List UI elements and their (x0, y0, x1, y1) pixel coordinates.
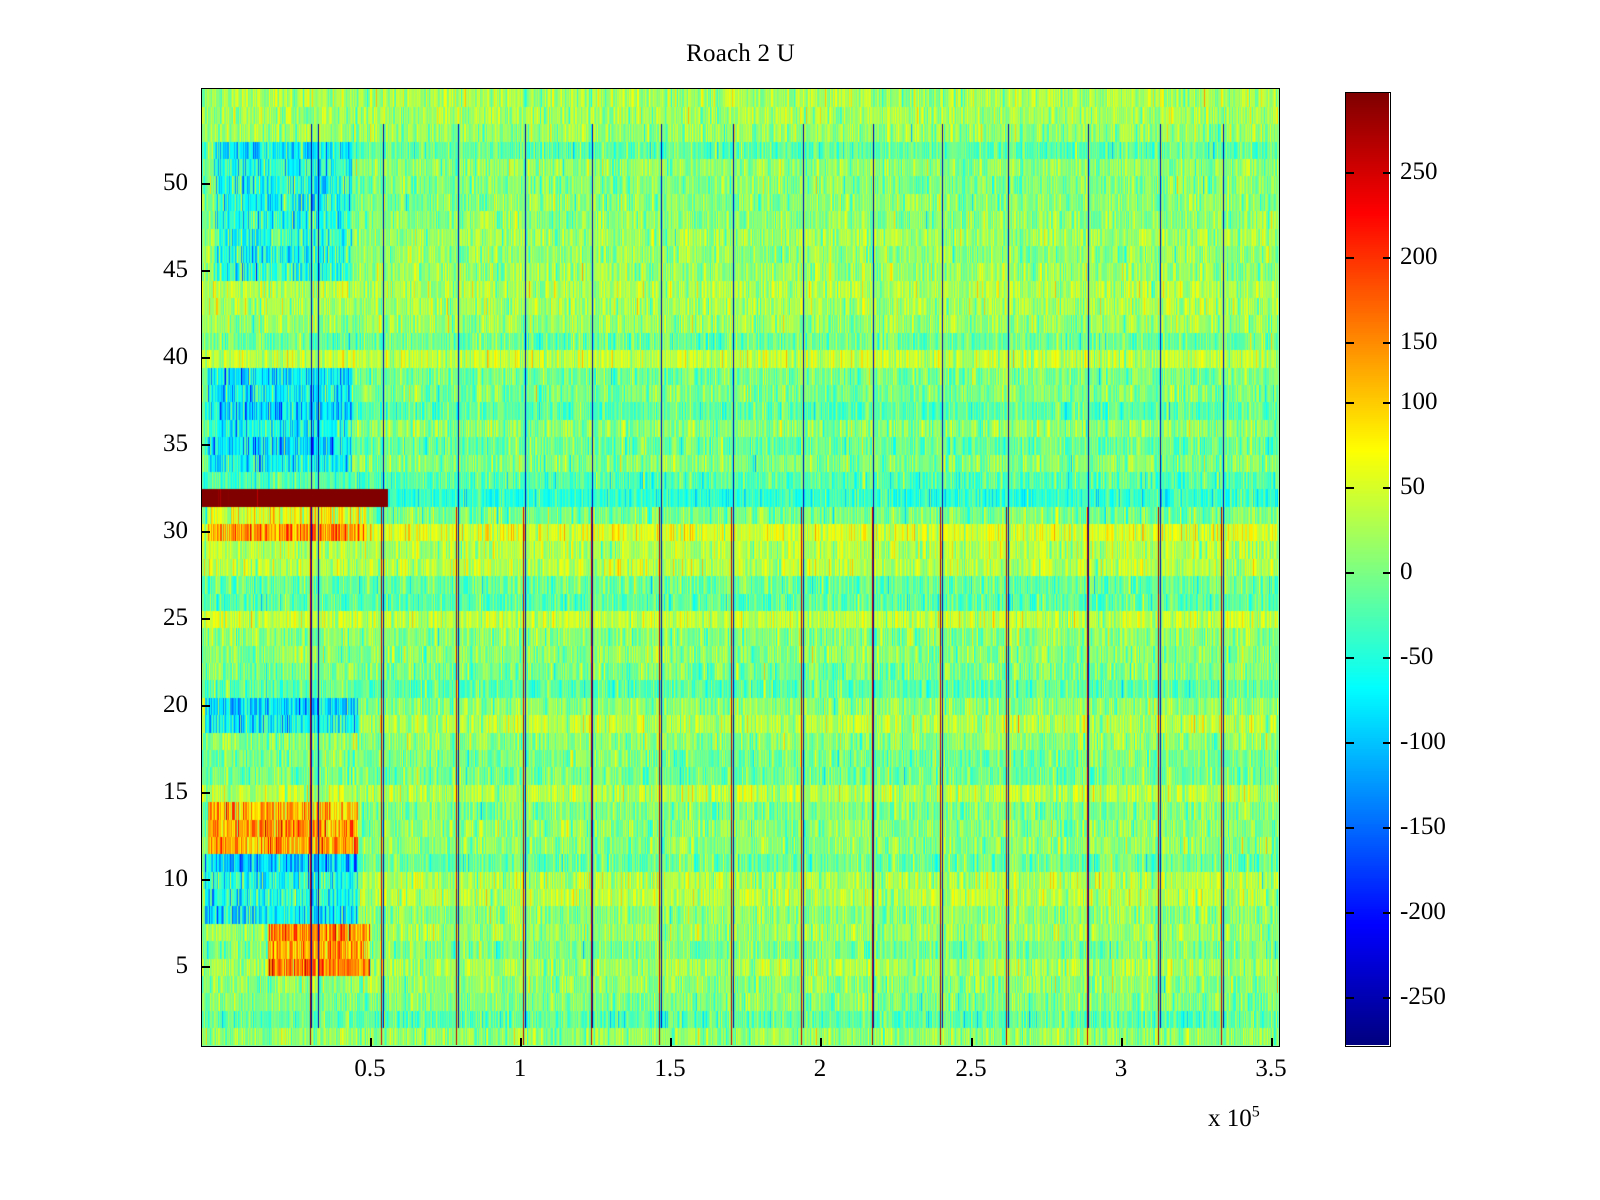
y-tick-35 (201, 444, 210, 446)
colorbar-label--150: -150 (1400, 814, 1446, 840)
colorbar-tick-100-left (1346, 402, 1354, 404)
figure-canvas: Roach 2 U 5 10 15 20 25 30 35 40 45 50 0… (0, 0, 1600, 1200)
x-axis-exponent-label: x 105 (1208, 1105, 1260, 1133)
colorbar-tick--100-left (1346, 742, 1354, 744)
colorbar-tick--250-left (1346, 997, 1354, 999)
x-tick-1 (520, 1038, 522, 1047)
x-ticklabel-1.5: 1.5 (654, 1056, 685, 1082)
x-exponent-power: 5 (1252, 1104, 1260, 1121)
heatmap-image[interactable] (202, 89, 1278, 1045)
colorbar-tick-0-right (1383, 572, 1391, 574)
colorbar-tick--150-right (1383, 827, 1391, 829)
colorbar-tick-0-left (1346, 572, 1354, 574)
colorbar-tick--50-right (1383, 657, 1391, 659)
colorbar-tick-250-left (1346, 172, 1354, 174)
x-tick-3 (1121, 1038, 1123, 1047)
colorbar-tick--200-right (1383, 912, 1391, 914)
y-ticklabel-40: 40 (130, 344, 188, 370)
colorbar-tick--200-left (1346, 912, 1354, 914)
y-ticklabel-30: 30 (130, 518, 188, 544)
colorbar-tick--250-right (1383, 997, 1391, 999)
colorbar-label--50: -50 (1400, 644, 1433, 670)
x-ticklabel-3.5: 3.5 (1255, 1056, 1286, 1082)
y-ticklabel-10: 10 (130, 866, 188, 892)
y-ticklabel-20: 20 (130, 692, 188, 718)
colorbar-tick-100-right (1383, 402, 1391, 404)
x-ticklabel-2: 2 (814, 1056, 827, 1082)
page-title: Roach 2 U (201, 40, 1280, 68)
colorbar-label-150: 150 (1400, 329, 1438, 355)
y-tick-50 (201, 183, 210, 185)
y-ticklabel-35: 35 (130, 431, 188, 457)
colorbar-label--200: -200 (1400, 899, 1446, 925)
x-ticklabel-2.5: 2.5 (955, 1056, 986, 1082)
y-tick-25 (201, 618, 210, 620)
y-tick-30 (201, 531, 210, 533)
heatmap-axes[interactable] (201, 88, 1280, 1047)
y-ticklabel-50: 50 (130, 170, 188, 196)
colorbar-label-0: 0 (1400, 559, 1413, 585)
x-tick-1.5 (670, 1038, 672, 1047)
y-ticklabel-45: 45 (130, 257, 188, 283)
colorbar-tick--50-left (1346, 657, 1354, 659)
colorbar-tick-150-left (1346, 342, 1354, 344)
colorbar-tick--100-right (1383, 742, 1391, 744)
colorbar-tick-250-right (1383, 172, 1391, 174)
x-ticklabel-3: 3 (1115, 1056, 1128, 1082)
x-ticklabel-1: 1 (514, 1056, 527, 1082)
y-tick-20 (201, 705, 210, 707)
colorbar-tick-150-right (1383, 342, 1391, 344)
y-tick-15 (201, 792, 210, 794)
y-tick-5 (201, 966, 210, 968)
colorbar-label-200: 200 (1400, 244, 1438, 270)
colorbar-label-50: 50 (1400, 474, 1425, 500)
x-ticklabel-0.5: 0.5 (354, 1056, 385, 1082)
y-tick-40 (201, 357, 210, 359)
colorbar-tick-50-left (1346, 487, 1354, 489)
colorbar[interactable] (1345, 92, 1391, 1047)
colorbar-label-100: 100 (1400, 389, 1438, 415)
colorbar-tick-200-right (1383, 257, 1391, 259)
colorbar-tick--150-left (1346, 827, 1354, 829)
x-tick-2 (820, 1038, 822, 1047)
colorbar-tick-50-right (1383, 487, 1391, 489)
x-tick-0.5 (370, 1038, 372, 1047)
x-tick-2.5 (971, 1038, 973, 1047)
colorbar-tick-200-left (1346, 257, 1354, 259)
y-ticklabel-5: 5 (130, 953, 188, 979)
colorbar-label-250: 250 (1400, 159, 1438, 185)
colorbar-gradient (1346, 93, 1389, 1045)
colorbar-label--100: -100 (1400, 729, 1446, 755)
y-tick-10 (201, 879, 210, 881)
colorbar-label--250: -250 (1400, 984, 1446, 1010)
y-tick-45 (201, 270, 210, 272)
x-exponent-prefix: x 10 (1208, 1105, 1252, 1132)
x-tick-3.5 (1271, 1038, 1273, 1047)
y-ticklabel-25: 25 (130, 605, 188, 631)
y-ticklabel-15: 15 (130, 779, 188, 805)
